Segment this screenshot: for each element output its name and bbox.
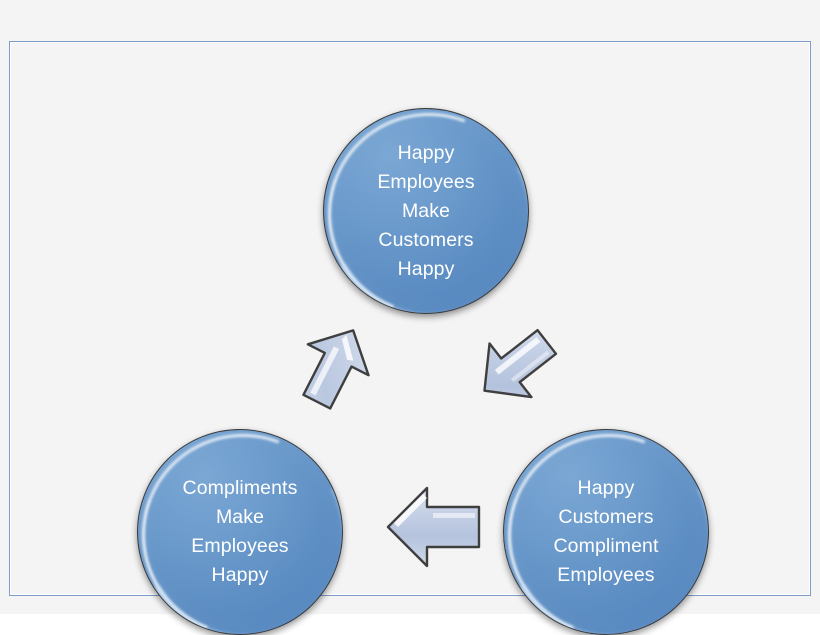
node-happy-employees-label: Happy Employees Make Customers Happy — [365, 139, 486, 284]
node-happy-customers-label: Happy Customers Compliment Employees — [541, 474, 670, 590]
node-happy-employees[interactable]: Happy Employees Make Customers Happy — [323, 108, 529, 314]
diagram-frame: Happy Employees Make Customers Happy Hap… — [9, 41, 811, 596]
diagram-canvas: Happy Employees Make Customers Happy Hap… — [0, 0, 820, 614]
arrow-left-icon — [383, 480, 485, 574]
arrow-down-right-icon — [468, 323, 564, 409]
node-happy-customers[interactable]: Happy Customers Compliment Employees — [503, 429, 709, 635]
node-compliments[interactable]: Compliments Make Employees Happy — [137, 429, 343, 635]
node-compliments-label: Compliments Make Employees Happy — [171, 474, 310, 590]
arrow-up-right-icon — [287, 323, 383, 409]
